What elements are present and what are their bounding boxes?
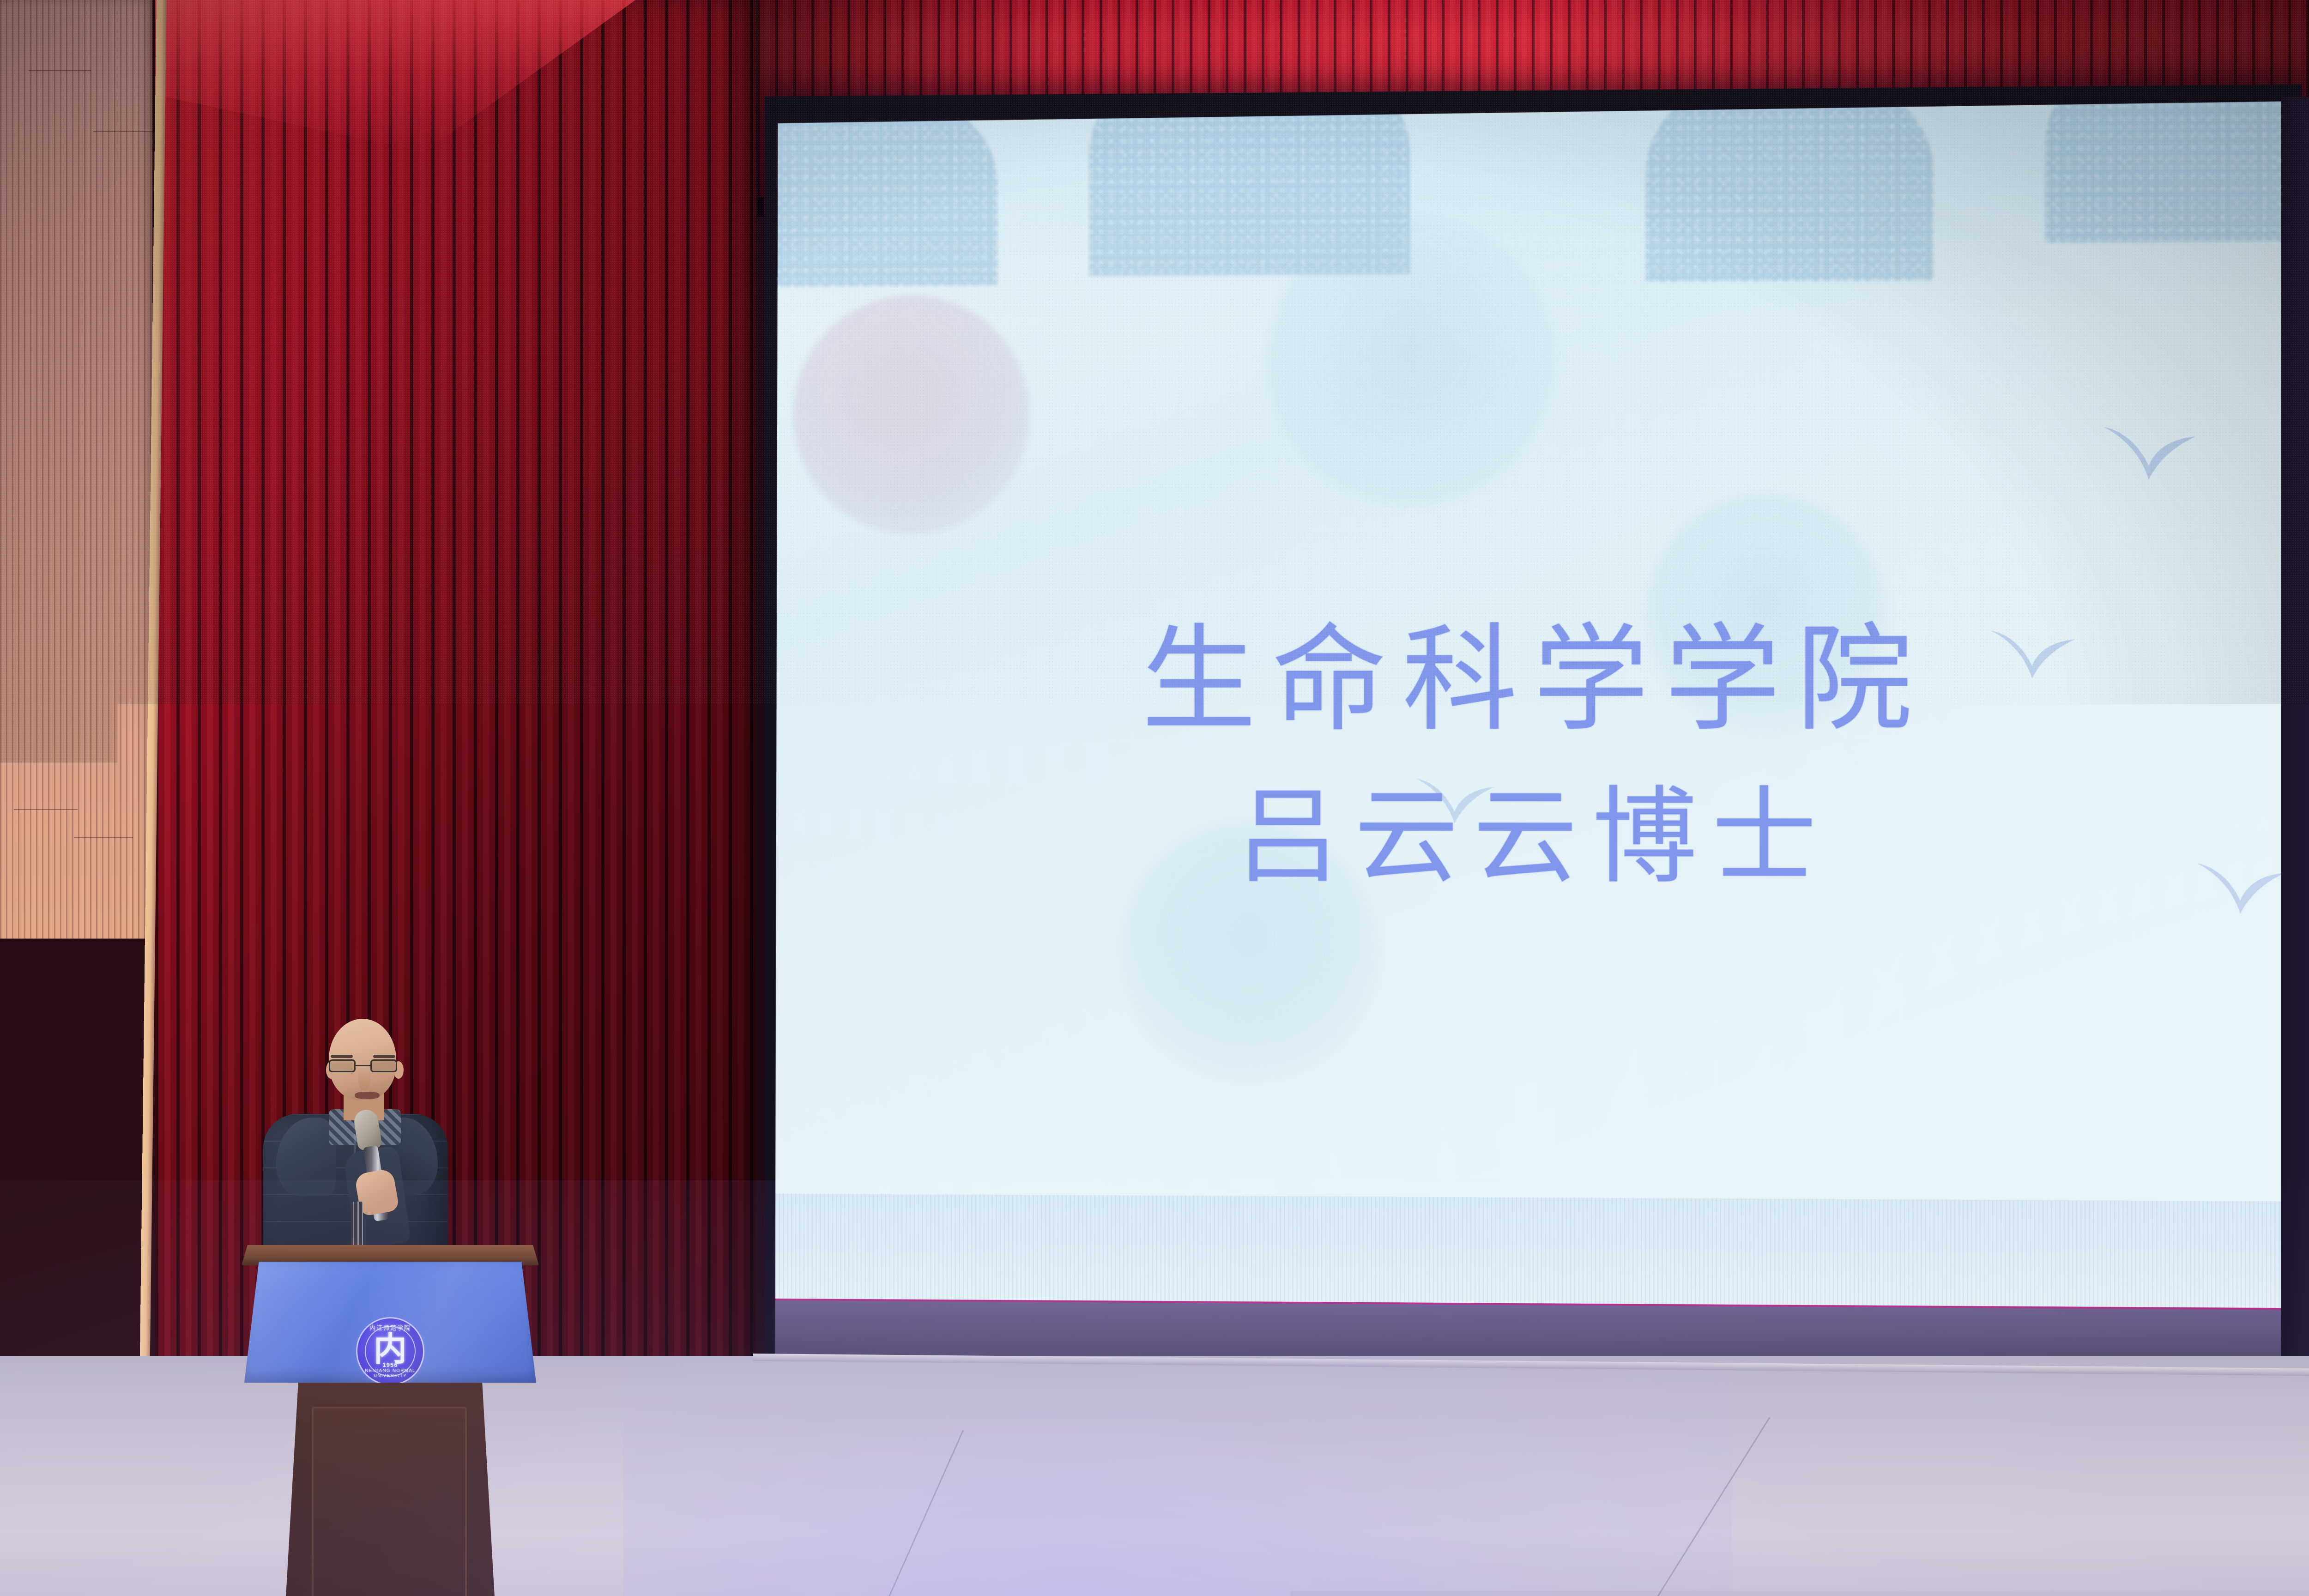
university-emblem: 内江师范学院 内 1956 NEIJIANG NORMAL UNIVERSITY	[356, 1317, 424, 1385]
slide-title-line-2: 吕云云博士	[1221, 780, 1832, 896]
speaker-mouth	[355, 1092, 380, 1099]
stage-photo-scene: 生命科学学院 吕云云博士	[0, 0, 2309, 1596]
wall-panel-seam	[93, 131, 152, 132]
glasses-lens-left	[329, 1059, 356, 1072]
screen-lower-texture	[775, 1194, 2289, 1308]
screen-right-frame	[2281, 97, 2309, 1451]
glasses-bridge	[356, 1065, 370, 1066]
slide-title-line-1: 生命科学学院	[1126, 617, 1928, 745]
projection-screen: 生命科学学院 吕云云博士	[775, 101, 2289, 1430]
speaker-eyebrow-left	[331, 1055, 353, 1058]
glasses-lens-right	[370, 1059, 397, 1072]
emblem-founding-year: 1956	[357, 1361, 423, 1368]
presentation-slide: 生命科学学院 吕云云博士	[775, 101, 2289, 1430]
wall-panel-seam	[83, 1322, 140, 1323]
wall-panel-seam	[74, 837, 133, 838]
speaker-nose	[358, 1070, 370, 1091]
wall-panel-seam	[21, 1345, 86, 1346]
podium: 内江师范学院 内 1956 NEIJIANG NORMAL UNIVERSITY	[238, 1245, 543, 1596]
wall-panel-seam	[29, 70, 91, 71]
podium-front-panel: 内江师范学院 内 1956 NEIJIANG NORMAL UNIVERSITY	[244, 1262, 536, 1383]
emblem-english-name: NEIJIANG NORMAL UNIVERSITY	[357, 1368, 423, 1378]
wall-panel-seam	[14, 809, 78, 810]
podium-body-panel	[312, 1407, 467, 1596]
speaker-eyebrow-right	[373, 1055, 395, 1058]
